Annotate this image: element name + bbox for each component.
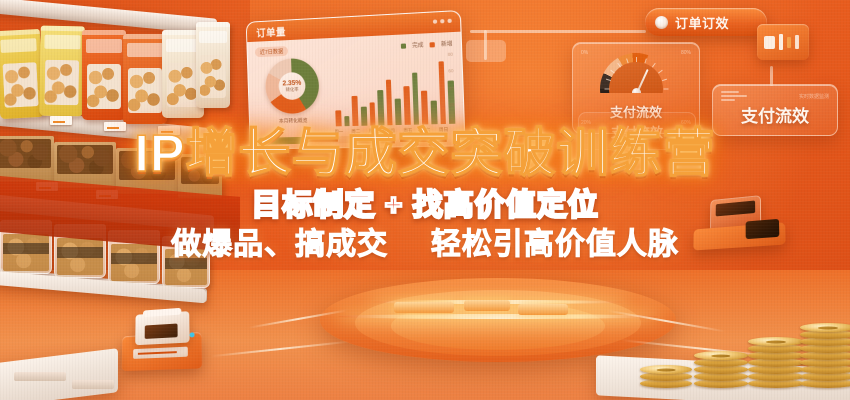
subtitle-line-2b: 轻松引高价值人脉 bbox=[431, 228, 679, 261]
donut-caption: 本月转化概览 bbox=[279, 117, 308, 125]
gauge-tick-mark bbox=[658, 70, 663, 74]
legend-swatch-complete bbox=[401, 43, 406, 48]
gauge-tick-mark bbox=[610, 70, 615, 74]
gauge-tick-mark bbox=[617, 63, 621, 68]
podium-segment bbox=[464, 300, 510, 311]
gauge-tick-mark bbox=[662, 79, 667, 81]
gauge-tick-mark bbox=[644, 58, 646, 63]
connector-rail bbox=[470, 30, 646, 33]
device-bar-short bbox=[787, 37, 791, 48]
bar-chart-ytick: 40 bbox=[449, 85, 454, 90]
pos-head bbox=[135, 311, 190, 345]
subtitle-line-2a: 做爆品、搞成交 bbox=[171, 228, 388, 261]
bar-chart-ytick: 60 bbox=[448, 68, 453, 73]
pos-screen bbox=[145, 323, 178, 338]
coin-top bbox=[694, 351, 748, 360]
gauge-tick-mark bbox=[636, 57, 637, 62]
snack-package bbox=[0, 29, 44, 119]
device-screen-icon bbox=[764, 36, 775, 49]
bar-chart-bar: 周日 bbox=[438, 61, 446, 124]
page-title: IP增长与成交突破训练营 bbox=[0, 128, 850, 182]
legend-label-complete: 完成 bbox=[412, 41, 424, 50]
coin-stack bbox=[694, 332, 748, 388]
gauge-tick-mark bbox=[605, 89, 610, 90]
price-tag bbox=[50, 116, 72, 125]
bar-chart-bar bbox=[361, 106, 367, 125]
dashboard-title: 订单量 bbox=[256, 24, 286, 40]
coin-stack bbox=[748, 316, 804, 388]
platform-card bbox=[14, 372, 66, 381]
coin-top bbox=[748, 337, 804, 346]
order-badge-label: 订单订效 bbox=[675, 13, 729, 32]
snack-package bbox=[196, 22, 230, 108]
bar-chart-bar: 周一 bbox=[335, 111, 341, 127]
podium-segment bbox=[394, 302, 454, 313]
window-controls-icon[interactable] bbox=[433, 19, 452, 24]
bar-chart-bar: 周五 bbox=[403, 86, 410, 125]
headline-block: IP增长与成交突破训练营 目标制定 + 找高价值定位 做爆品、搞成交 轻松引高价… bbox=[0, 128, 850, 260]
device-bar-tall bbox=[779, 34, 783, 50]
legend-label-new: 新增 bbox=[441, 39, 453, 48]
coin-stack bbox=[800, 300, 850, 388]
card-stem bbox=[770, 66, 773, 86]
order-efficiency-badge[interactable]: 订单订效 bbox=[645, 8, 767, 36]
bar-chart: 周一周二周三周四周五周六周日806040200 bbox=[333, 52, 455, 137]
pos-terminal[interactable] bbox=[122, 310, 203, 371]
bar-chart-bar bbox=[431, 101, 438, 124]
bar-chart-ytick: 80 bbox=[448, 52, 453, 57]
subtitle-line-2: 做爆品、搞成交 轻松引高价值人脉 bbox=[0, 230, 850, 260]
gauge-tick-mark bbox=[652, 63, 656, 68]
coin-stack bbox=[640, 348, 692, 388]
gauge-ticks bbox=[600, 53, 672, 93]
podium-segment bbox=[518, 304, 568, 315]
device-bar-mid bbox=[795, 35, 799, 49]
card-note: 实时数据监测 bbox=[799, 93, 829, 100]
chart-legend: 完成 新增 bbox=[401, 38, 453, 51]
pos-handle bbox=[143, 308, 181, 317]
bar-chart-bar: 周三 bbox=[369, 103, 375, 126]
mini-device-widget[interactable] bbox=[757, 24, 809, 60]
gauge-tick-mark bbox=[606, 79, 611, 81]
bar-chart-bar bbox=[412, 73, 420, 125]
coin-top bbox=[800, 323, 850, 332]
donut-chart: 2.35% 转化率 bbox=[265, 57, 320, 114]
card-mini-bars-icon bbox=[721, 91, 747, 101]
payment-flow-label: 支付流效 bbox=[713, 102, 837, 127]
bar-chart-ytick: 20 bbox=[449, 102, 454, 107]
bar-chart-bar bbox=[377, 90, 384, 125]
gauge-tick-min: 0% bbox=[581, 50, 588, 56]
bar-chart-bar: 周四 bbox=[386, 79, 393, 125]
coin-top bbox=[640, 365, 692, 374]
snack-package bbox=[82, 30, 126, 120]
gauge-tick-mark bbox=[626, 58, 628, 63]
donut-center-readout: 2.35% 转化率 bbox=[265, 57, 320, 114]
snack-package bbox=[39, 26, 85, 117]
pos-card-slot bbox=[133, 347, 188, 359]
gauge-tick-mark bbox=[664, 89, 669, 90]
bar-chart-ytick: 0 bbox=[450, 119, 455, 124]
platform-card bbox=[72, 380, 114, 389]
donut-label: 转化率 bbox=[286, 86, 299, 92]
poster-canvas: 订单量 近7日数据 完成 新增 2.35% 转化率 bbox=[0, 0, 850, 400]
podium-glow-outer bbox=[338, 314, 658, 319]
gauge-dial bbox=[600, 53, 672, 93]
badge-indicator-icon bbox=[655, 16, 668, 29]
legend-swatch-new bbox=[430, 42, 435, 47]
bar-chart-bar: 周二 bbox=[352, 96, 359, 126]
bar-chart-bar bbox=[395, 98, 402, 125]
snack-package bbox=[123, 34, 167, 124]
subtitle-line-1: 目标制定 + 找高价值定位 bbox=[0, 191, 850, 221]
gauge-needle-hub bbox=[632, 88, 641, 93]
connector-rail bbox=[466, 40, 506, 62]
gauge-tick-max: 80% bbox=[681, 50, 691, 56]
date-range-chip[interactable]: 近7日数据 bbox=[255, 46, 288, 57]
bar-chart-bar: 周六 bbox=[421, 90, 428, 124]
